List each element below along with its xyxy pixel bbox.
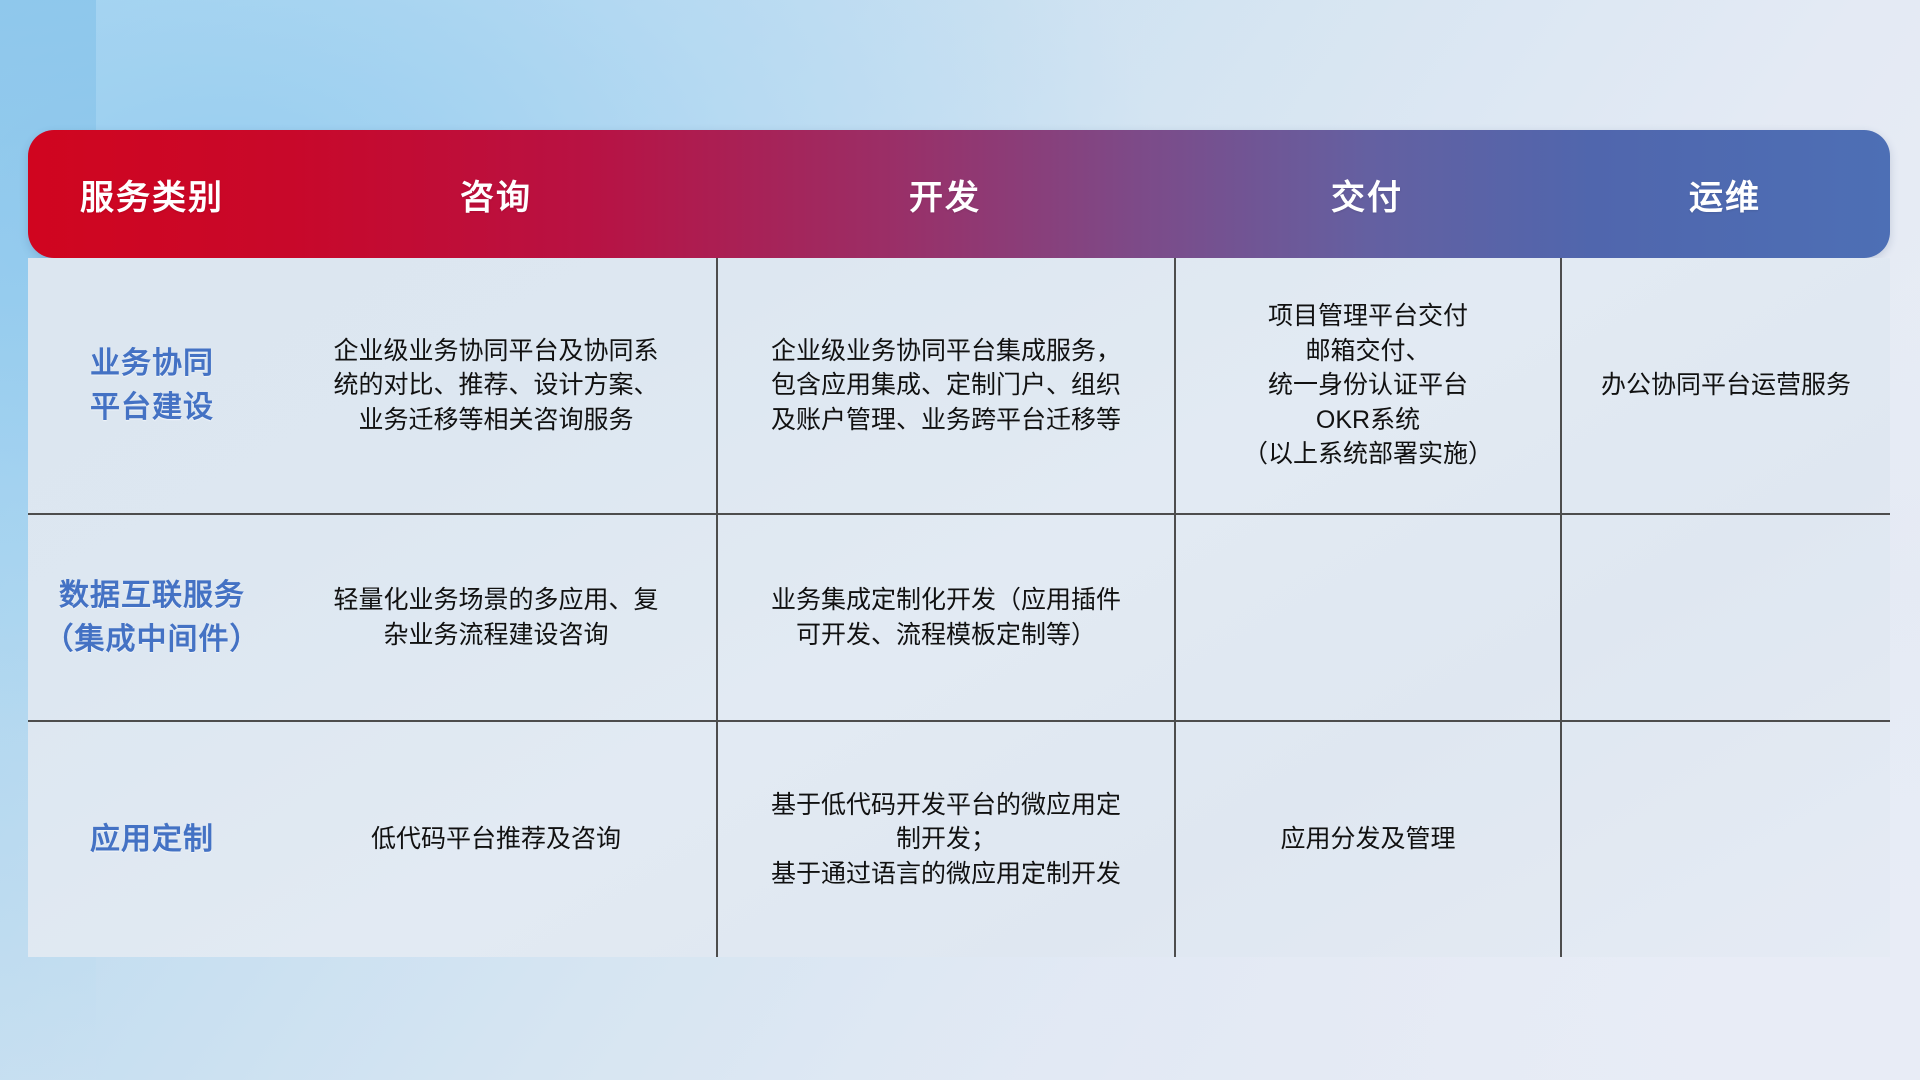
table-header-row: 服务类别 咨询 开发 交付 运维 bbox=[28, 130, 1890, 258]
cell-operations-row2 bbox=[1560, 515, 1890, 720]
cell-consulting-row1: 企业级业务协同平台及协同系 统的对比、推荐、设计方案、 业务迁移等相关咨询服务 bbox=[276, 258, 716, 513]
cell-delivery-row1: 项目管理平台交付 邮箱交付、 统一身份认证平台 OKR系统 （以上系统部署实施） bbox=[1174, 258, 1560, 513]
column-header-delivery: 交付 bbox=[1174, 130, 1560, 258]
cell-delivery-row3: 应用分发及管理 bbox=[1174, 722, 1560, 957]
cell-consulting-row3: 低代码平台推荐及咨询 bbox=[276, 722, 716, 957]
column-header-development: 开发 bbox=[716, 130, 1174, 258]
table-row: 数据互联服务 （集成中间件） 轻量化业务场景的多应用、复 杂业务流程建设咨询 业… bbox=[28, 513, 1890, 720]
cell-development-row3: 基于低代码开发平台的微应用定 制开发； 基于通过语言的微应用定制开发 bbox=[716, 722, 1174, 957]
row-label-data-interconnect: 数据互联服务 （集成中间件） bbox=[28, 515, 276, 720]
slide-canvas: 服务类别 咨询 开发 交付 运维 业务协同 平台建设 企业级业务协同平台及协同系… bbox=[0, 0, 1920, 1080]
cell-operations-row3 bbox=[1560, 722, 1890, 957]
table-row: 业务协同 平台建设 企业级业务协同平台及协同系 统的对比、推荐、设计方案、 业务… bbox=[28, 258, 1890, 513]
table-row: 应用定制 低代码平台推荐及咨询 基于低代码开发平台的微应用定 制开发； 基于通过… bbox=[28, 720, 1890, 957]
row-label-app-customization: 应用定制 bbox=[28, 722, 276, 957]
service-matrix-table: 服务类别 咨询 开发 交付 运维 业务协同 平台建设 企业级业务协同平台及协同系… bbox=[28, 130, 1890, 957]
column-header-consulting: 咨询 bbox=[276, 130, 716, 258]
table-body: 业务协同 平台建设 企业级业务协同平台及协同系 统的对比、推荐、设计方案、 业务… bbox=[28, 258, 1890, 957]
column-header-category: 服务类别 bbox=[28, 130, 276, 258]
cell-delivery-row2 bbox=[1174, 515, 1560, 720]
column-header-operations: 运维 bbox=[1560, 130, 1890, 258]
cell-operations-row1: 办公协同平台运营服务 bbox=[1560, 258, 1890, 513]
cell-consulting-row2: 轻量化业务场景的多应用、复 杂业务流程建设咨询 bbox=[276, 515, 716, 720]
row-label-business-collaboration: 业务协同 平台建设 bbox=[28, 258, 276, 513]
cell-development-row1: 企业级业务协同平台集成服务， 包含应用集成、定制门户、组织 及账户管理、业务跨平… bbox=[716, 258, 1174, 513]
cell-development-row2: 业务集成定制化开发（应用插件 可开发、流程模板定制等） bbox=[716, 515, 1174, 720]
